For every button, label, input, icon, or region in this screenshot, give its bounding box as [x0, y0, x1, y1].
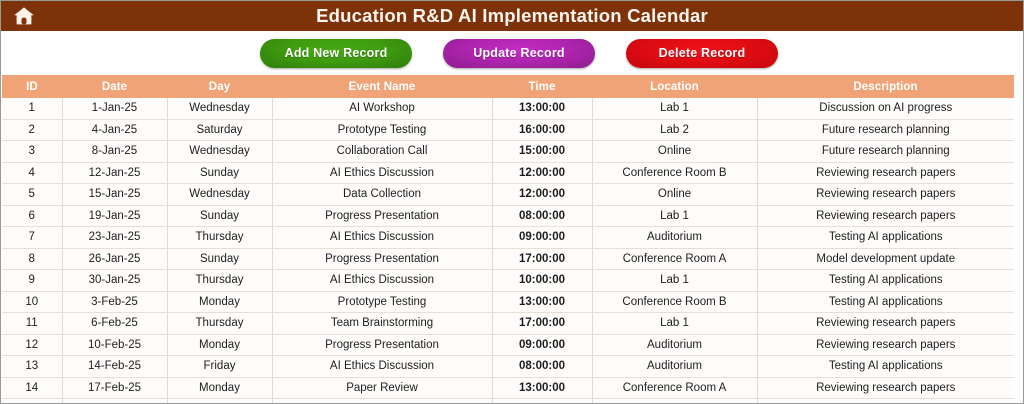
cell-id[interactable]: 1: [2, 98, 62, 119]
cell-description[interactable]: Future research planning: [757, 141, 1014, 163]
cell-time[interactable]: 13:00:00: [492, 377, 592, 399]
cell-id[interactable]: 5: [2, 184, 62, 206]
cell-date[interactable]: 26-Jan-25: [62, 248, 167, 270]
cell-date[interactable]: 1-Jan-25: [62, 98, 167, 119]
home-button[interactable]: [1, 1, 47, 31]
cell-event-name[interactable]: Prototype Testing: [272, 291, 492, 313]
cell-description[interactable]: Future research planning: [757, 399, 1014, 404]
column-header-event-name[interactable]: Event Name: [272, 75, 492, 98]
cell-description[interactable]: Testing AI applications: [757, 227, 1014, 249]
cell-event-name[interactable]: Progress Presentation: [272, 248, 492, 270]
cell-description[interactable]: Discussion on AI progress: [757, 98, 1014, 119]
cell-event-name[interactable]: AI Ethics Discussion: [272, 227, 492, 249]
cell-time[interactable]: 09:00:00: [492, 334, 592, 356]
cell-event-name[interactable]: AI Workshop: [272, 98, 492, 119]
cell-time[interactable]: 13:00:00: [492, 98, 592, 119]
page-title: Education R&D AI Implementation Calendar: [47, 5, 1023, 27]
table-row[interactable]: 723-Jan-25ThursdayAI Ethics Discussion09…: [2, 227, 1014, 249]
cell-event-name[interactable]: AI Ethics Discussion: [272, 270, 492, 292]
add-new-record-button[interactable]: Add New Record: [260, 39, 412, 68]
cell-location[interactable]: Conference Room B: [592, 291, 757, 313]
cell-date[interactable]: 17-Feb-25: [62, 377, 167, 399]
cell-id[interactable]: 9: [2, 270, 62, 292]
cell-location[interactable]: Lab 2: [592, 399, 757, 404]
cell-location[interactable]: Online: [592, 141, 757, 163]
cell-description[interactable]: Reviewing research papers: [757, 313, 1014, 335]
cell-day[interactable]: Friday: [167, 399, 272, 404]
table-row[interactable]: 1417-Feb-25MondayPaper Review13:00:00Con…: [2, 377, 1014, 399]
cell-id[interactable]: 6: [2, 205, 62, 227]
cell-location[interactable]: Conference Room B: [592, 162, 757, 184]
cell-time[interactable]: 17:00:00: [492, 313, 592, 335]
cell-event-name[interactable]: Paper Review: [272, 377, 492, 399]
cell-day[interactable]: Friday: [167, 356, 272, 378]
cell-time[interactable]: 12:00:00: [492, 184, 592, 206]
cell-event-name[interactable]: Progress Presentation: [272, 205, 492, 227]
column-header-day[interactable]: Day: [167, 75, 272, 98]
cell-date[interactable]: 15-Jan-25: [62, 184, 167, 206]
cell-time[interactable]: 15:00:00: [492, 141, 592, 163]
table-row[interactable]: 103-Feb-25MondayPrototype Testing13:00:0…: [2, 291, 1014, 313]
calendar-app-window: Education R&D AI Implementation Calendar…: [0, 0, 1024, 404]
cell-description[interactable]: Testing AI applications: [757, 270, 1014, 292]
cell-day[interactable]: Monday: [167, 377, 272, 399]
cell-date[interactable]: 10-Feb-25: [62, 334, 167, 356]
cell-id[interactable]: 7: [2, 227, 62, 249]
cell-event-name[interactable]: Prototype Testing: [272, 119, 492, 141]
cell-date[interactable]: 8-Jan-25: [62, 141, 167, 163]
cell-date[interactable]: 21-Feb-25: [62, 399, 167, 404]
cell-time[interactable]: 17:00:00: [492, 248, 592, 270]
home-icon: [13, 6, 35, 26]
cell-id[interactable]: 11: [2, 313, 62, 335]
cell-date[interactable]: 6-Feb-25: [62, 313, 167, 335]
cell-event-name[interactable]: Team Brainstorming: [272, 313, 492, 335]
column-header-time[interactable]: Time: [492, 75, 592, 98]
cell-date[interactable]: 23-Jan-25: [62, 227, 167, 249]
cell-id[interactable]: 13: [2, 356, 62, 378]
cell-time[interactable]: 08:00:00: [492, 205, 592, 227]
cell-location[interactable]: Lab 2: [592, 119, 757, 141]
records-table-container: ID Date Day Event Name Time Location Des…: [1, 75, 1023, 404]
table-body: 11-Jan-25WednesdayAI Workshop13:00:00Lab…: [2, 98, 1014, 404]
cell-description[interactable]: Reviewing research papers: [757, 334, 1014, 356]
cell-time[interactable]: 09:00:00: [492, 399, 592, 404]
cell-location[interactable]: Lab 1: [592, 313, 757, 335]
cell-location[interactable]: Auditorium: [592, 356, 757, 378]
cell-time[interactable]: 16:00:00: [492, 119, 592, 141]
cell-description[interactable]: Model development update: [757, 248, 1014, 270]
cell-location[interactable]: Conference Room A: [592, 377, 757, 399]
cell-time[interactable]: 09:00:00: [492, 227, 592, 249]
action-toolbar: Add New Record Update Record Delete Reco…: [1, 31, 1023, 75]
cell-location[interactable]: Conference Room A: [592, 248, 757, 270]
cell-day[interactable]: Monday: [167, 291, 272, 313]
cell-event-name[interactable]: Model Training Session: [272, 399, 492, 404]
cell-date[interactable]: 14-Feb-25: [62, 356, 167, 378]
records-table: ID Date Day Event Name Time Location Des…: [2, 75, 1014, 404]
cell-id[interactable]: 12: [2, 334, 62, 356]
table-row[interactable]: 24-Jan-25SaturdayPrototype Testing16:00:…: [2, 119, 1014, 141]
title-bar: Education R&D AI Implementation Calendar: [1, 1, 1023, 31]
table-row[interactable]: 930-Jan-25ThursdayAI Ethics Discussion10…: [2, 270, 1014, 292]
cell-day[interactable]: Saturday: [167, 119, 272, 141]
cell-day[interactable]: Wednesday: [167, 141, 272, 163]
cell-day[interactable]: Monday: [167, 334, 272, 356]
cell-id[interactable]: 2: [2, 119, 62, 141]
table-header-row: ID Date Day Event Name Time Location Des…: [2, 75, 1014, 98]
table-row[interactable]: 826-Jan-25SundayProgress Presentation17:…: [2, 248, 1014, 270]
cell-location[interactable]: Lab 1: [592, 205, 757, 227]
table-row[interactable]: 38-Jan-25WednesdayCollaboration Call15:0…: [2, 141, 1014, 163]
cell-id[interactable]: 10: [2, 291, 62, 313]
cell-location[interactable]: Auditorium: [592, 334, 757, 356]
cell-date[interactable]: 4-Jan-25: [62, 119, 167, 141]
cell-location[interactable]: Lab 1: [592, 98, 757, 119]
cell-id[interactable]: 15: [2, 399, 62, 404]
cell-time[interactable]: 12:00:00: [492, 162, 592, 184]
cell-description[interactable]: Testing AI applications: [757, 291, 1014, 313]
delete-record-button[interactable]: Delete Record: [626, 39, 778, 68]
cell-description[interactable]: Future research planning: [757, 119, 1014, 141]
cell-day[interactable]: Wednesday: [167, 98, 272, 119]
cell-description[interactable]: Testing AI applications: [757, 356, 1014, 378]
table-row[interactable]: 515-Jan-25WednesdayData Collection12:00:…: [2, 184, 1014, 206]
cell-date[interactable]: 30-Jan-25: [62, 270, 167, 292]
cell-time[interactable]: 08:00:00: [492, 356, 592, 378]
cell-time[interactable]: 13:00:00: [492, 291, 592, 313]
cell-date[interactable]: 19-Jan-25: [62, 205, 167, 227]
cell-event-name[interactable]: Progress Presentation: [272, 334, 492, 356]
cell-description[interactable]: Reviewing research papers: [757, 184, 1014, 206]
cell-day[interactable]: Thursday: [167, 270, 272, 292]
column-header-date[interactable]: Date: [62, 75, 167, 98]
update-record-button[interactable]: Update Record: [443, 39, 595, 68]
table-row[interactable]: 1210-Feb-25MondayProgress Presentation09…: [2, 334, 1014, 356]
cell-event-name[interactable]: AI Ethics Discussion: [272, 162, 492, 184]
table-row[interactable]: 619-Jan-25SundayProgress Presentation08:…: [2, 205, 1014, 227]
cell-id[interactable]: 4: [2, 162, 62, 184]
cell-description[interactable]: Reviewing research papers: [757, 162, 1014, 184]
cell-date[interactable]: 3-Feb-25: [62, 291, 167, 313]
cell-event-name[interactable]: Data Collection: [272, 184, 492, 206]
table-row[interactable]: 11-Jan-25WednesdayAI Workshop13:00:00Lab…: [2, 98, 1014, 119]
cell-id[interactable]: 8: [2, 248, 62, 270]
table-row[interactable]: 1314-Feb-25FridayAI Ethics Discussion08:…: [2, 356, 1014, 378]
cell-id[interactable]: 14: [2, 377, 62, 399]
column-header-id[interactable]: ID: [2, 75, 62, 98]
cell-id[interactable]: 3: [2, 141, 62, 163]
cell-day[interactable]: Thursday: [167, 227, 272, 249]
cell-event-name[interactable]: Collaboration Call: [272, 141, 492, 163]
cell-day[interactable]: Sunday: [167, 205, 272, 227]
cell-day[interactable]: Wednesday: [167, 184, 272, 206]
cell-location[interactable]: Online: [592, 184, 757, 206]
cell-location[interactable]: Auditorium: [592, 227, 757, 249]
table-header: ID Date Day Event Name Time Location Des…: [2, 75, 1014, 98]
cell-day[interactable]: Thursday: [167, 313, 272, 335]
cell-location[interactable]: Lab 1: [592, 270, 757, 292]
cell-time[interactable]: 10:00:00: [492, 270, 592, 292]
cell-date[interactable]: 12-Jan-25: [62, 162, 167, 184]
table-row[interactable]: 1521-Feb-25FridayModel Training Session0…: [2, 399, 1014, 404]
table-row[interactable]: 116-Feb-25ThursdayTeam Brainstorming17:0…: [2, 313, 1014, 335]
cell-day[interactable]: Sunday: [167, 248, 272, 270]
column-header-description[interactable]: Description: [757, 75, 1014, 98]
cell-day[interactable]: Sunday: [167, 162, 272, 184]
column-header-location[interactable]: Location: [592, 75, 757, 98]
table-row[interactable]: 412-Jan-25SundayAI Ethics Discussion12:0…: [2, 162, 1014, 184]
cell-event-name[interactable]: AI Ethics Discussion: [272, 356, 492, 378]
cell-description[interactable]: Reviewing research papers: [757, 377, 1014, 399]
cell-description[interactable]: Reviewing research papers: [757, 205, 1014, 227]
